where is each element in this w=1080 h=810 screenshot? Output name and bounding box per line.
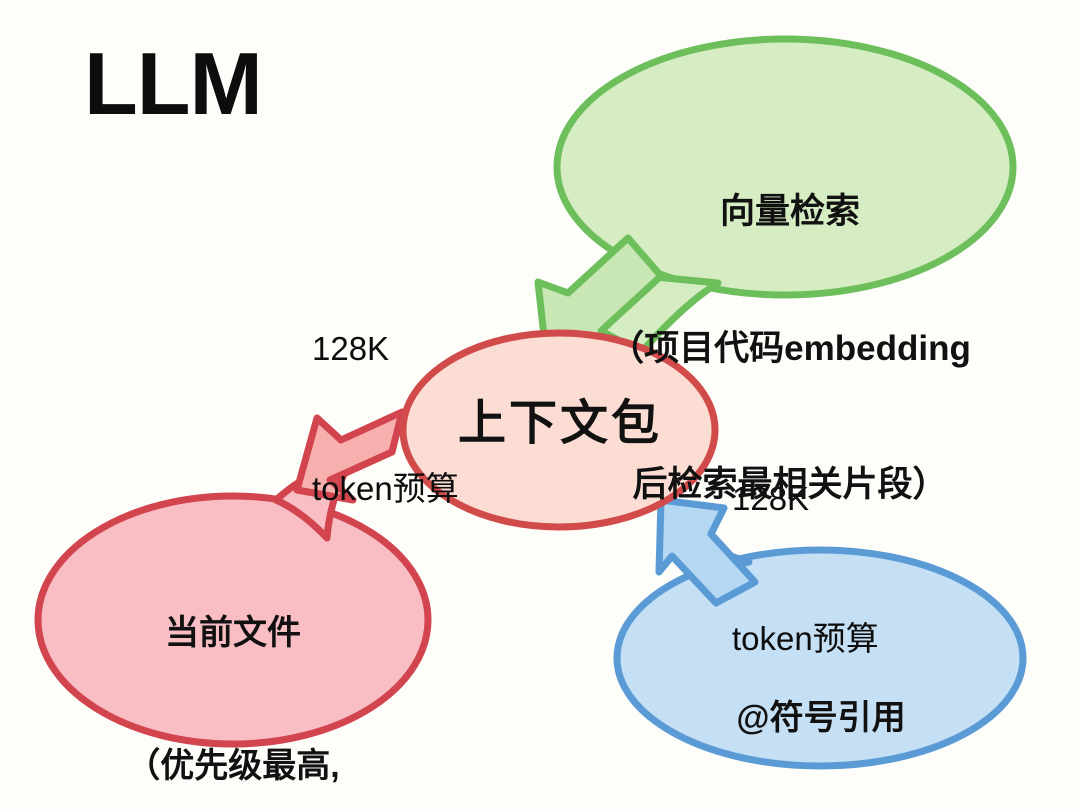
context-package-label: 上下文包: [400, 393, 720, 455]
vector-search-line-1: 向量检索: [560, 189, 1020, 235]
current-file-line-2: （优先级最高,: [42, 744, 424, 788]
at-symbol-line-1: @符号引用: [618, 696, 1024, 740]
current-file-line-1: 当前文件: [42, 611, 424, 655]
budget-top-line2: token预算: [312, 466, 459, 513]
vector-search-line-3: 后检索最相关片段）: [560, 462, 1020, 508]
vector-search-line-2: （项目代码embedding: [560, 326, 1020, 372]
page-title: LLM: [84, 40, 262, 128]
diagram-canvas: LLM 128K token预算 128K token预算 向量检索 （项目代码…: [0, 0, 1080, 810]
current-file-label: 当前文件 （优先级最高, 显示光标前后N行）: [42, 523, 424, 810]
budget-top-line1: 128K: [312, 326, 459, 373]
vector-search-label: 向量检索 （项目代码embedding 后检索最相关片段）: [560, 98, 1020, 599]
at-symbol-reference-label: @符号引用 （用户手动指定文件）: [618, 608, 1024, 810]
